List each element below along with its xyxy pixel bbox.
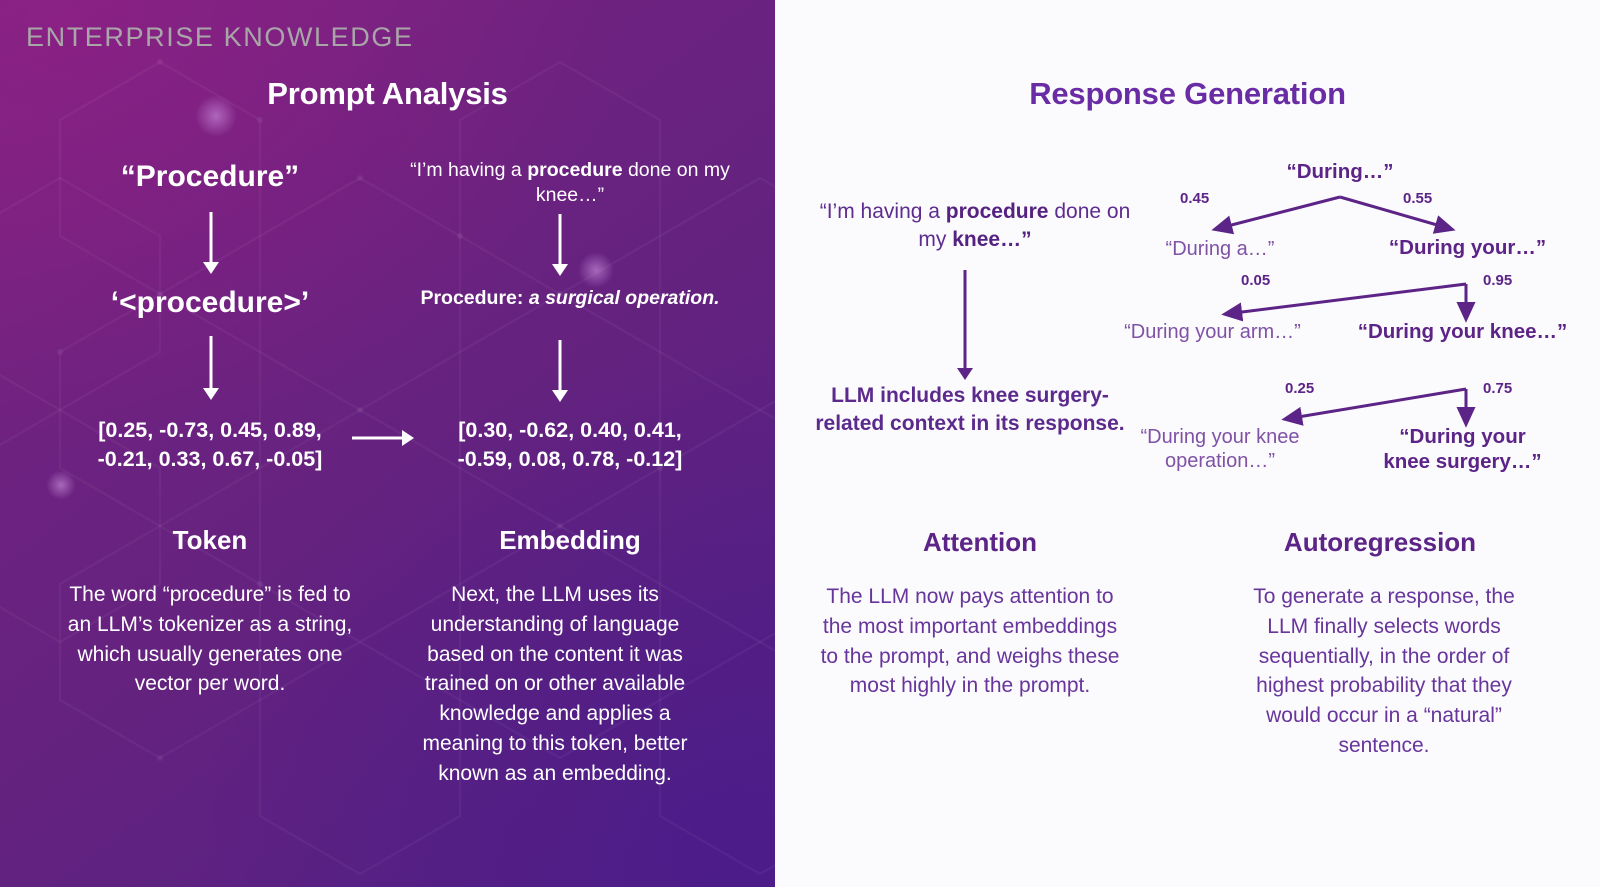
section-body-token: The word “procedure” is fed to an LLM’s …: [60, 580, 360, 699]
tree-node-during-your-knee-surgery: “During your knee surgery…”: [1375, 425, 1550, 474]
arrow-prompt-to-context: [957, 270, 973, 380]
token-word: “Procedure”: [30, 160, 390, 194]
arrow-definition-to-vector: [552, 340, 568, 402]
section-heading-attention: Attention: [795, 527, 1165, 558]
prompt-pre: “I’m having a: [820, 200, 946, 223]
token-vector-line-1: [0.25, -0.73, 0.45, 0.89,: [30, 416, 390, 445]
brand-label: ENTERPRISE KNOWLEDGE: [26, 22, 414, 53]
response-generation-panel: Response Generation “I’m having a proced…: [775, 0, 1600, 887]
definition-label: Procedure:: [420, 287, 523, 309]
infographic-root: ENTERPRISE KNOWLEDGE Prompt Analysis “Pr…: [0, 0, 1600, 887]
section-heading-embedding: Embedding: [390, 525, 750, 556]
panel-title-prompt-analysis: Prompt Analysis: [0, 76, 775, 112]
section-body-embedding: Next, the LLM uses its understanding of …: [405, 580, 705, 789]
embedding-vector: [0.30, -0.62, 0.40, 0.41, -0.59, 0.08, 0…: [395, 416, 745, 473]
embedding-prompt-sentence: “I’m having a procedure done on my knee……: [400, 158, 740, 209]
prompt-bold-procedure: procedure: [946, 200, 1049, 223]
token-vector: [0.25, -0.73, 0.45, 0.89, -0.21, 0.33, 0…: [30, 416, 390, 473]
section-heading-autoregression: Autoregression: [1170, 527, 1590, 558]
glow-dot: [578, 252, 614, 288]
arrow-sentence-to-definition: [552, 214, 568, 276]
tree-prob-level2-right: 0.95: [1483, 272, 1512, 289]
tree-prob-level1-left: 0.45: [1180, 190, 1209, 207]
tree-prob-level2-left: 0.05: [1241, 272, 1270, 289]
definition-value: a surgical operation.: [529, 287, 720, 309]
section-heading-token: Token: [30, 525, 390, 556]
embedding-vector-line-1: [0.30, -0.62, 0.40, 0.41,: [395, 416, 745, 445]
tree-node-during-a: “During a…”: [1105, 237, 1335, 261]
glow-dot: [46, 470, 76, 500]
tree-prob-level3-right: 0.75: [1483, 380, 1512, 397]
sentence-pre: “I’m having a: [410, 159, 527, 181]
sentence-bold: procedure: [527, 159, 622, 181]
prompt-bold-knee: knee…”: [952, 228, 1031, 251]
tree-node-during-your-arm: “During your arm…”: [1105, 320, 1320, 344]
tree-node-during-your-knee: “During your knee…”: [1345, 320, 1580, 345]
arrow-word-to-token: [203, 212, 219, 274]
embedding-definition: Procedure: a surgical operation.: [420, 286, 720, 311]
attention-context-text: LLM includes knee surgery-related contex…: [805, 382, 1135, 438]
arrow-token-to-vector: [203, 336, 219, 400]
tree-prob-level3-left: 0.25: [1285, 380, 1314, 397]
token-value: ‘<procedure>’: [30, 286, 390, 320]
tree-node-root: “During…”: [1215, 160, 1465, 185]
tree-prob-level1-right: 0.55: [1403, 190, 1432, 207]
token-vector-line-2: -0.21, 0.33, 0.67, -0.05]: [30, 445, 390, 474]
section-body-attention: The LLM now pays attention to the most i…: [820, 582, 1120, 701]
tree-node-during-your: “During your…”: [1345, 236, 1590, 261]
prompt-analysis-panel: ENTERPRISE KNOWLEDGE Prompt Analysis “Pr…: [0, 0, 775, 887]
panel-title-response-generation: Response Generation: [775, 76, 1600, 112]
attention-prompt-sentence: “I’m having a procedure done on my knee……: [805, 198, 1145, 253]
section-body-autoregression: To generate a response, the LLM finally …: [1243, 582, 1525, 761]
tree-node-during-your-knee-operation: “During your knee operation…”: [1135, 425, 1305, 473]
embedding-vector-line-2: -0.59, 0.08, 0.78, -0.12]: [395, 445, 745, 474]
